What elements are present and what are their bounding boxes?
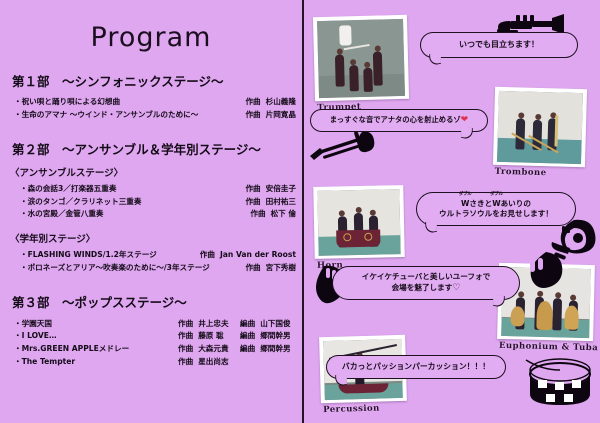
list-item: ・FLASHING WINDS/1.2年ステージ 作曲 Jan Van der …: [6, 249, 296, 262]
piece-title: ・森の会話3／打楽器五重奏: [20, 185, 116, 193]
arranger-name: 郷間幹男: [260, 345, 290, 353]
compose-slot: 作曲 星出尚志: [178, 358, 240, 366]
piece-title: ・The Tempter: [14, 358, 75, 366]
list-item: ・水の宮殿／金管八重奏 作曲 松下 倫: [6, 208, 296, 221]
bubble-text: いつでも目立ちます！: [459, 40, 539, 51]
composer-name: 大森元貴: [198, 345, 228, 353]
snare-drum-icon: [524, 356, 596, 416]
tuba-icon: [524, 250, 568, 290]
composer-name: 田村祐三: [266, 198, 296, 206]
composer-name: 片岡寛晶: [266, 111, 296, 119]
compose-slot: 作曲 井上忠夫: [178, 320, 240, 328]
composer-name: 藤原 聡: [198, 332, 223, 340]
piece-title: ・祝い唄と踊り唄による幻想曲: [14, 98, 120, 106]
photo-image-trumpet: [317, 19, 405, 98]
ruby-w-1: ダブルW: [461, 199, 469, 209]
arranger-name: 山下国俊: [260, 320, 290, 328]
compose-label: 作曲: [245, 98, 260, 106]
compose-label: 作曲: [178, 358, 193, 366]
bubble-trombone: まっすぐな音でアナタの心を射止めるゾ❤: [310, 109, 488, 132]
program-column: Program 第１部 ～シンフォニックステージ～ ・祝い唄と踊り唄による幻想曲…: [0, 0, 302, 423]
piece-credits: 作曲 藤原 聡 編曲 郷間幹男: [178, 332, 296, 340]
piece-title: ・ポロネーズとアリア～吹奏楽のために～/3年ステージ: [20, 264, 210, 272]
bubble-text: まっすぐな音でアナタの心を射止めるゾ❤: [330, 114, 468, 126]
compose-label: 作曲: [178, 345, 193, 353]
list-item: ・生命のアマナ ～ウインド・アンサンブルのために～ 作曲 片岡寛晶: [6, 109, 296, 122]
photo-caption: Euphonium & Tuba: [499, 341, 600, 354]
composer-name: 杉山義隆: [266, 98, 296, 106]
piece-credits: 作曲 星出尚志: [178, 358, 296, 366]
compose-label: 作曲: [245, 198, 260, 206]
list-item: ・ポロネーズとアリア～吹奏楽のために～/3年ステージ 作曲 宮下秀樹: [6, 262, 296, 275]
part-3-piece-list: ・学園天国 作曲 井上忠夫 編曲 山下国俊 ・I LOVE…: [6, 317, 296, 368]
arranger-name: 郷間幹男: [260, 332, 290, 340]
part-1-heading: 第１部 ～シンフォニックステージ～: [12, 71, 296, 90]
piece-title: ・FLASHING WINDS/1.2年ステージ: [20, 251, 157, 259]
list-item: ・学園天国 作曲 井上忠夫 編曲 山下国俊: [6, 317, 296, 330]
compose-slot: 作曲 藤原 聡: [178, 332, 240, 340]
photo-trombone: Trombone: [493, 87, 587, 168]
piece-credits: 作曲 片岡寛晶: [245, 111, 296, 119]
bubble-text: バカっとパッションパーカッション！！！: [342, 362, 490, 373]
part-3-heading: 第３部 ～ポップスステージ～: [12, 292, 296, 311]
composer-name: Jan Van der Roost: [220, 251, 296, 259]
arrange-slot: 編曲 山下国俊: [240, 320, 296, 328]
composer-name: 松下 倫: [271, 210, 296, 218]
piece-credits: 作曲 大森元貴 編曲 郷間幹男: [178, 345, 296, 353]
flyer-page: Program 第１部 ～シンフォニックステージ～ ・祝い唄と踊り唄による幻想曲…: [0, 0, 600, 423]
piece-title: ・生命のアマナ ～ウインド・アンサンブルのために～: [14, 111, 198, 119]
heart-outline-icon: ♡: [452, 283, 460, 293]
heart-icon: ❤: [461, 115, 469, 125]
composer-name: 星出尚志: [198, 358, 228, 366]
bubble-line-2: 会場を魅了します♡: [392, 282, 461, 294]
list-item: ・森の会話3／打楽器五重奏 作曲 安倍圭子: [6, 183, 296, 196]
compose-label: 作曲: [245, 264, 260, 272]
compose-label: 作曲: [200, 251, 215, 259]
photo-image-horn: [317, 189, 400, 256]
piece-title: ・学園天国: [14, 320, 52, 328]
bubble-tail: [461, 126, 473, 141]
bubble-percussion: バカっとパッションパーカッション！！！: [326, 355, 506, 379]
compose-label: 作曲: [245, 111, 260, 119]
piece-credits: 作曲 杉山義隆: [245, 98, 296, 106]
compose-slot: 作曲 大森元貴: [178, 345, 240, 353]
piece-title: ・水の宮殿／金管八重奏: [20, 210, 104, 218]
list-item: ・I LOVE… 作曲 藤原 聡 編曲 郷間幹男: [6, 330, 296, 343]
part-1-piece-list: ・祝い唄と踊り唄による幻想曲 作曲 杉山義隆 ・生命のアマナ ～ウインド・アンサ…: [6, 96, 296, 122]
bubble-line-2: ウルトラソウルをお見せします！: [439, 209, 553, 219]
bubble-tail: [425, 220, 437, 235]
piece-title: ・I LOVE…: [14, 332, 57, 340]
bubble-line-1: イケイケチューバと美しいユーフォで: [362, 272, 490, 282]
composer-name: 宮下秀樹: [266, 264, 296, 272]
photo-caption: Trombone: [495, 167, 600, 181]
arrange-label: 編曲: [240, 345, 255, 353]
part-2-subheading-ensemble: 〈アンサンブルステージ〉: [10, 165, 296, 179]
bubble-euphonium-tuba: イケイケチューバと美しいユーフォで 会場を魅了します♡: [332, 266, 520, 300]
piece-title: ・Mrs.GREEN APPLEメドレー: [14, 345, 129, 353]
photo-image-trombone: [497, 91, 583, 164]
compose-label: 作曲: [250, 210, 265, 218]
grade-piece-list: ・FLASHING WINDS/1.2年ステージ 作曲 Jan Van der …: [6, 249, 296, 275]
piece-credits: 作曲 井上忠夫 編曲 山下国俊: [178, 320, 296, 328]
ensemble-piece-list: ・森の会話3／打楽器五重奏 作曲 安倍圭子 ・涙のタンゴ／クラリネット三重奏 作…: [6, 183, 296, 221]
gallery-column: Trumpet いつでも目立ちます！: [302, 0, 600, 423]
photo-caption: Percussion: [323, 402, 453, 416]
bubble-tail: [429, 52, 441, 67]
ruby-w-2: ダブルW: [492, 199, 500, 209]
piece-credits: 作曲 松下 倫: [250, 210, 296, 218]
composer-name: 井上忠夫: [198, 320, 228, 328]
arrange-slot: 編曲 郷間幹男: [240, 332, 296, 340]
part-2-subheading-grade: 〈学年別ステージ〉: [10, 231, 296, 245]
piece-credits: 作曲 Jan Van der Roost: [200, 251, 296, 259]
piece-credits: 作曲 宮下秀樹: [245, 264, 296, 272]
photo-horn: Horn: [313, 185, 404, 259]
compose-label: 作曲: [245, 185, 260, 193]
piece-title: ・涙のタンゴ／クラリネット三重奏: [20, 198, 142, 206]
trombone-icon: [306, 130, 378, 160]
piece-credits: 作曲 安倍圭子: [245, 185, 296, 193]
page-title: Program: [6, 22, 296, 53]
photo-trumpet: Trumpet: [313, 15, 409, 101]
arrange-slot: 編曲 郷間幹男: [240, 345, 296, 353]
list-item: ・Mrs.GREEN APPLEメドレー 作曲 大森元貴 編曲 郷間幹男: [6, 343, 296, 356]
list-item: ・祝い唄と踊り唄による幻想曲 作曲 杉山義隆: [6, 96, 296, 109]
compose-label: 作曲: [178, 320, 193, 328]
part-2-heading: 第２部 ～アンサンブル＆学年別ステージ～: [12, 139, 296, 158]
composer-name: 安倍圭子: [266, 185, 296, 193]
list-item: ・涙のタンゴ／クラリネット三重奏 作曲 田村祐三: [6, 195, 296, 208]
bubble-horn: ダブルWさきとダブルWあいりの ウルトラソウルをお見せします！: [416, 192, 576, 226]
piece-credits: 作曲 田村祐三: [245, 198, 296, 206]
arrange-label: 編曲: [240, 332, 255, 340]
compose-label: 作曲: [178, 332, 193, 340]
bubble-line-1: ダブルWさきとダブルWあいりの: [461, 199, 531, 209]
arrange-label: 編曲: [240, 320, 255, 328]
bubble-trumpet: いつでも目立ちます！: [420, 32, 578, 58]
list-item: ・The Tempter 作曲 星出尚志: [6, 356, 296, 369]
